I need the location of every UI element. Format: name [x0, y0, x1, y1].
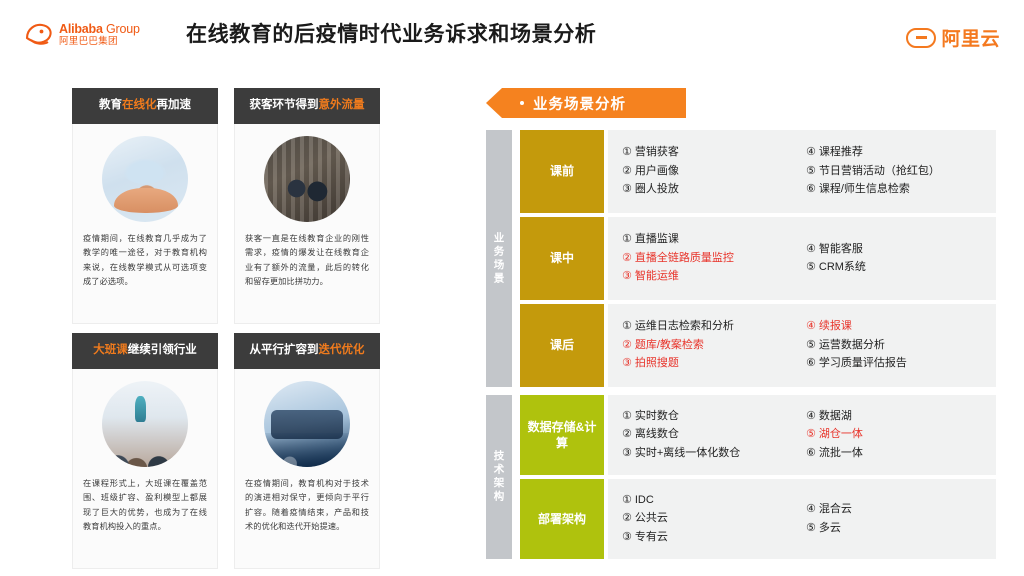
list-item: ①IDC — [622, 493, 800, 508]
insight-card-title: 大班课继续引领行业 — [72, 333, 218, 369]
row-content: ①IDC ②公共云 ③专有云 ④混合云 ⑤多云 — [608, 479, 996, 559]
bullet-dot-icon — [520, 101, 524, 105]
row-column-left: ①运维日志检索和分析 ②题库/教案检索 ③拍照搜题 — [622, 319, 800, 371]
row-column-right: ④续报课 ⑤运营数据分析 ⑥学习质量评估报告 — [806, 319, 986, 371]
row-content: ①运维日志检索和分析 ②题库/教案检索 ③拍照搜题 ④续报课 ⑤运营数据分析 ⑥… — [608, 304, 996, 387]
insight-card-text: 在疫情期间，教育机构对于技术的演进相对保守，更倾向于平行扩容。随着疫情结束，产品… — [245, 477, 369, 534]
list-item: ②题库/教案检索 — [622, 338, 800, 353]
row-label: 课中 — [520, 217, 604, 300]
list-item: ④混合云 — [806, 502, 986, 517]
alibaba-logo-en: Alibaba Group — [59, 23, 140, 36]
list-item: ⑥课程/师生信息检索 — [806, 182, 986, 197]
list-item: ⑥流批一体 — [806, 446, 986, 461]
lecture-hall-photo — [102, 381, 188, 467]
list-item: ③圈人投放 — [622, 182, 800, 197]
row-column-left: ①实时数仓 ②离线数仓 ③实时+离线一体化数仓 — [622, 409, 800, 461]
list-item: ⑥学习质量评估报告 — [806, 356, 986, 371]
list-item: ⑤湖仓一体 — [806, 427, 986, 442]
matrix-groups: 业务场景 课前 ①营销获客 ②用户画像 ③圈人投放 ④课程推荐 — [486, 130, 996, 567]
list-item: ⑤运营数据分析 — [806, 338, 986, 353]
list-item: ②用户画像 — [622, 164, 800, 179]
row-column-left: ①营销获客 ②用户画像 ③圈人投放 — [622, 145, 800, 197]
hand-holding-cloud-photo — [102, 136, 188, 222]
list-item: ③智能运维 — [622, 269, 800, 284]
title-part-highlight: 迭代优化 — [319, 342, 365, 360]
list-item: ①实时数仓 — [622, 409, 800, 424]
insight-card-text: 在课程形式上，大班课在覆盖范围、班级扩容、盈利模型上都展现了巨大的优势，也成为了… — [83, 477, 207, 534]
matrix-row: 部署架构 ①IDC ②公共云 ③专有云 ④混合云 ⑤多云 — [520, 479, 996, 559]
alibaba-smile-icon — [24, 22, 54, 48]
insight-card-body: 疫情期间，在线教育几乎成为了教学的唯一途径，对于教育机构来说，在线教学模式从可选… — [72, 124, 218, 324]
matrix-row: 课中 ①直播监课 ②直播全链路质量监控 ③智能运维 ④智能客服 ⑤CRM系统 — [520, 217, 996, 300]
list-item: ④数据湖 — [806, 409, 986, 424]
title-part-highlight: 在线化 — [122, 97, 157, 115]
list-item: ③专有云 — [622, 530, 800, 545]
section-banner: 业务场景分析 — [486, 88, 686, 118]
insight-card-title: 从平行扩容到迭代优化 — [234, 333, 380, 369]
list-item: ②离线数仓 — [622, 427, 800, 442]
group-rows: 数据存储&计算 ①实时数仓 ②离线数仓 ③实时+离线一体化数仓 ④数据湖 ⑤湖仓… — [512, 395, 996, 559]
matrix-row: 数据存储&计算 ①实时数仓 ②离线数仓 ③实时+离线一体化数仓 ④数据湖 ⑤湖仓… — [520, 395, 996, 475]
page-title: 在线教育的后疫情时代业务诉求和场景分析 — [186, 18, 596, 48]
insight-card-title: 获客环节得到意外流量 — [234, 88, 380, 124]
list-item: ③拍照搜题 — [622, 356, 800, 371]
title-part-highlight: 大班课 — [93, 342, 128, 360]
list-item: ②公共云 — [622, 511, 800, 526]
list-item: ⑤CRM系统 — [806, 260, 986, 275]
insight-card: 获客环节得到意外流量 获客一直是在线教育企业的刚性需求，疫情的爆发让在线教育企业… — [234, 88, 380, 324]
matrix-group: 业务场景 课前 ①营销获客 ②用户画像 ③圈人投放 ④课程推荐 — [486, 130, 996, 387]
list-item: ④智能客服 — [806, 242, 986, 257]
section-banner-label: 业务场景分析 — [533, 93, 626, 114]
slide-root: Alibaba Group 阿里巴巴集团 在线教育的后疫情时代业务诉求和场景分析… — [0, 0, 1024, 576]
cloud-logo-text: 阿里云 — [941, 24, 1000, 51]
row-label: 数据存储&计算 — [520, 395, 604, 475]
cloud-bracket-icon — [906, 28, 936, 48]
insight-card: 教育在线化再加速 疫情期间，在线教育几乎成为了教学的唯一途径，对于教育机构来说，… — [72, 88, 218, 324]
alibaba-logo-text: Alibaba Group 阿里巴巴集团 — [59, 23, 140, 46]
list-item: ⑤节日营销活动（抢红包） — [806, 164, 986, 179]
list-item: ③实时+离线一体化数仓 — [622, 446, 800, 461]
row-column-left: ①直播监课 ②直播全链路质量监控 ③智能运维 — [622, 232, 800, 284]
title-part-pre: 获客环节得到 — [250, 97, 319, 115]
row-column-right: ④数据湖 ⑤湖仓一体 ⑥流批一体 — [806, 409, 986, 461]
row-content: ①营销获客 ②用户画像 ③圈人投放 ④课程推荐 ⑤节日营销活动（抢红包） ⑥课程… — [608, 130, 996, 213]
title-part-post: 再加速 — [157, 97, 192, 115]
row-column-right: ④课程推荐 ⑤节日营销活动（抢红包） ⑥课程/师生信息检索 — [806, 145, 986, 197]
insight-card-text: 疫情期间，在线教育几乎成为了教学的唯一途径，对于教育机构来说，在线教学模式从可选… — [83, 232, 207, 289]
matrix-row: 课后 ①运维日志检索和分析 ②题库/教案检索 ③拍照搜题 ④续报课 ⑤运营数据分… — [520, 304, 996, 387]
row-label: 课后 — [520, 304, 604, 387]
insight-card-body: 在课程形式上，大班课在覆盖范围、班级扩容、盈利模型上都展现了巨大的优势，也成为了… — [72, 369, 218, 569]
group-vertical-label: 技术架构 — [486, 395, 512, 559]
scenario-matrix-panel: 业务场景分析 业务场景 课前 ①营销获客 ②用户画像 ③圈人投放 — [486, 88, 996, 118]
group-vertical-label: 业务场景 — [486, 130, 512, 387]
insight-card-body: 在疫情期间，教育机构对于技术的演进相对保守，更倾向于平行扩容。随着疫情结束，产品… — [234, 369, 380, 569]
list-item: ①直播监课 — [622, 232, 800, 247]
title-part-highlight: 意外流量 — [319, 97, 365, 115]
row-label: 课前 — [520, 130, 604, 213]
row-content: ①实时数仓 ②离线数仓 ③实时+离线一体化数仓 ④数据湖 ⑤湖仓一体 ⑥流批一体 — [608, 395, 996, 475]
row-column-right: ④智能客服 ⑤CRM系统 — [806, 242, 986, 276]
alibaba-logo-cn: 阿里巴巴集团 — [59, 37, 140, 47]
matrix-group: 技术架构 数据存储&计算 ①实时数仓 ②离线数仓 ③实时+离线一体化数仓 ④数据… — [486, 395, 996, 559]
list-item: ④课程推荐 — [806, 145, 986, 160]
row-label: 部署架构 — [520, 479, 604, 559]
office-classroom-photo — [264, 136, 350, 222]
insight-card: 大班课继续引领行业 在课程形式上，大班课在覆盖范围、班级扩容、盈利模型上都展现了… — [72, 333, 218, 569]
insight-card: 从平行扩容到迭代优化 在疫情期间，教育机构对于技术的演进相对保守，更倾向于平行扩… — [234, 333, 380, 569]
title-part-pre: 从平行扩容到 — [250, 342, 319, 360]
alibaba-cloud-logo: 阿里云 — [906, 24, 1000, 51]
row-content: ①直播监课 ②直播全链路质量监控 ③智能运维 ④智能客服 ⑤CRM系统 — [608, 217, 996, 300]
list-item: ①营销获客 — [622, 145, 800, 160]
insight-card-body: 获客一直是在线教育企业的刚性需求，疫情的爆发让在线教育企业有了额外的流量，此后的… — [234, 124, 380, 324]
list-item: ⑤多云 — [806, 521, 986, 536]
insight-card-title: 教育在线化再加速 — [72, 88, 218, 124]
title-part-pre: 教育 — [99, 97, 122, 115]
insight-card-text: 获客一直是在线教育企业的刚性需求，疫情的爆发让在线教育企业有了额外的流量，此后的… — [245, 232, 369, 289]
matrix-row: 课前 ①营销获客 ②用户画像 ③圈人投放 ④课程推荐 ⑤节日营销活动（抢红包） … — [520, 130, 996, 213]
list-item: ④续报课 — [806, 319, 986, 334]
insight-cards-panel: 教育在线化再加速 疫情期间，在线教育几乎成为了教学的唯一途径，对于教育机构来说，… — [72, 88, 380, 563]
slide-header: Alibaba Group 阿里巴巴集团 在线教育的后疫情时代业务诉求和场景分析… — [0, 0, 1024, 66]
row-column-right: ④混合云 ⑤多云 — [806, 502, 986, 536]
title-part-post: 继续引领行业 — [128, 342, 197, 360]
alibaba-group-logo: Alibaba Group 阿里巴巴集团 — [24, 18, 164, 52]
hands-on-laptop-photo — [264, 381, 350, 467]
group-rows: 课前 ①营销获客 ②用户画像 ③圈人投放 ④课程推荐 ⑤节日营销活动（抢红包） … — [512, 130, 996, 387]
list-item: ①运维日志检索和分析 — [622, 319, 800, 334]
row-column-left: ①IDC ②公共云 ③专有云 — [622, 493, 800, 545]
list-item: ②直播全链路质量监控 — [622, 251, 800, 266]
